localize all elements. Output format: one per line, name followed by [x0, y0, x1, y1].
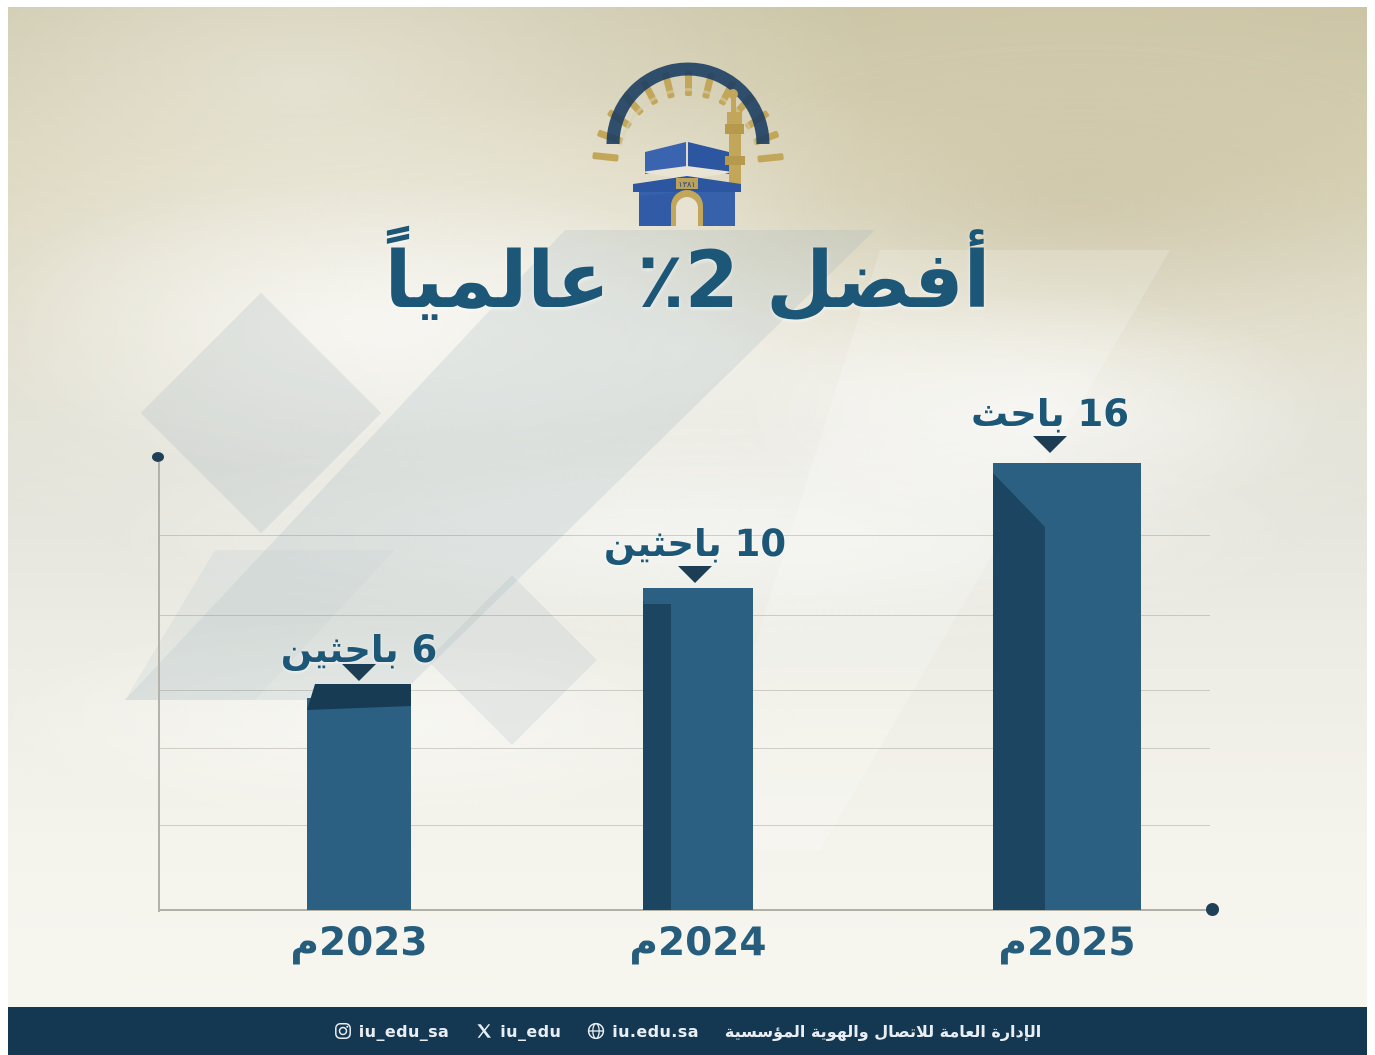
- footer-bar: الإدارة العامة للاتصال والهوية المؤسسية …: [0, 1007, 1375, 1055]
- value-marker-2024: [678, 566, 712, 583]
- page-edge-top: [0, 0, 1375, 7]
- footer-website-handle: iu.edu.sa: [612, 1022, 699, 1041]
- y-axis: [158, 462, 160, 912]
- instagram-icon: [334, 1022, 352, 1040]
- bar-2023[interactable]: [307, 684, 411, 910]
- bar-2023-front: [307, 698, 411, 910]
- y-axis-endpoint-dot: [152, 452, 164, 462]
- value-label-2024: 10 باحثين: [590, 522, 800, 565]
- bar-2024-side: [643, 588, 671, 910]
- footer-link-website[interactable]: iu.edu.sa: [587, 1022, 699, 1041]
- bar-2025-side: [993, 463, 1045, 910]
- bar-chart: 6 باحثين 10 باحثين 16 باحث 2023م 2024م 2…: [0, 0, 1375, 1005]
- bar-2025-top: [993, 463, 1141, 527]
- footer-link-x[interactable]: iu_edu: [475, 1022, 561, 1041]
- footer-instagram-handle: iu_edu_sa: [359, 1022, 450, 1041]
- x-axis-label-2024: 2024م: [588, 920, 808, 965]
- x-twitter-icon: [475, 1022, 493, 1040]
- value-marker-2025: [1033, 436, 1067, 453]
- bar-2023-top: [307, 684, 411, 710]
- globe-icon: [587, 1022, 605, 1040]
- x-axis-label-2025: 2025م: [957, 920, 1177, 965]
- bar-2024[interactable]: [643, 588, 753, 910]
- value-marker-2023: [342, 664, 376, 681]
- bar-2024-top: [643, 588, 753, 604]
- value-label-2025: 16 باحث: [950, 392, 1150, 435]
- page-edge-right: [1367, 0, 1375, 1055]
- footer-department: الإدارة العامة للاتصال والهوية المؤسسية: [725, 1022, 1041, 1041]
- bar-2025[interactable]: [993, 463, 1141, 910]
- footer-x-handle: iu_edu: [500, 1022, 561, 1041]
- x-axis-label-2023: 2023م: [249, 920, 469, 965]
- infographic-poster: ١٣٨١ أفضل 2٪ عالمياً: [0, 0, 1375, 1055]
- x-axis-endpoint-dot: [1206, 903, 1219, 916]
- footer-link-instagram[interactable]: iu_edu_sa: [334, 1022, 450, 1041]
- page-edge-left: [0, 0, 8, 1055]
